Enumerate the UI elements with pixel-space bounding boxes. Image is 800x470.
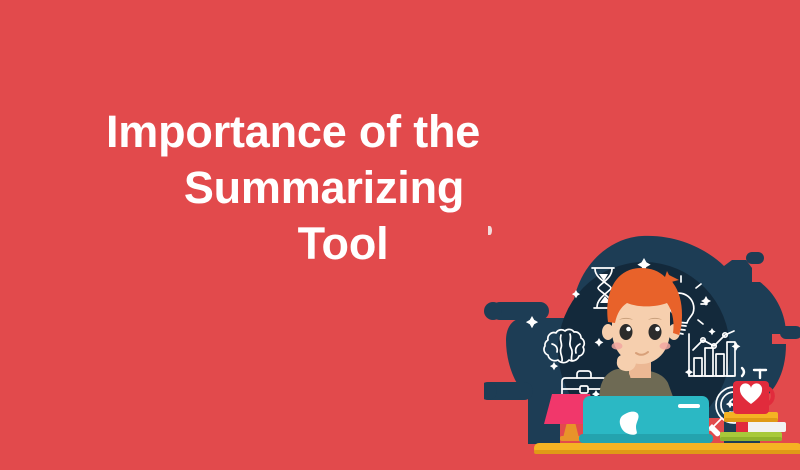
person-eye-right (649, 324, 662, 340)
lamp-base (560, 436, 582, 441)
person-hand (617, 353, 636, 371)
laptop-camera-bar (678, 404, 700, 408)
page-title: Importance of the Summarizing Tool (60, 104, 570, 272)
person-blush-left (612, 342, 623, 349)
page-title-line-1: Importance of the (60, 104, 570, 160)
page-title-line-3: Tool (60, 216, 570, 272)
laptop-base (579, 434, 713, 443)
image-edge-artifact (488, 226, 492, 235)
banner: Importance of the Summarizing Tool (0, 0, 800, 470)
laptop (579, 396, 713, 443)
desk-shelf (534, 443, 800, 454)
person-blush-right (660, 342, 671, 349)
page-title-line-2: Summarizing (60, 160, 570, 216)
person-eye-left (620, 324, 633, 340)
